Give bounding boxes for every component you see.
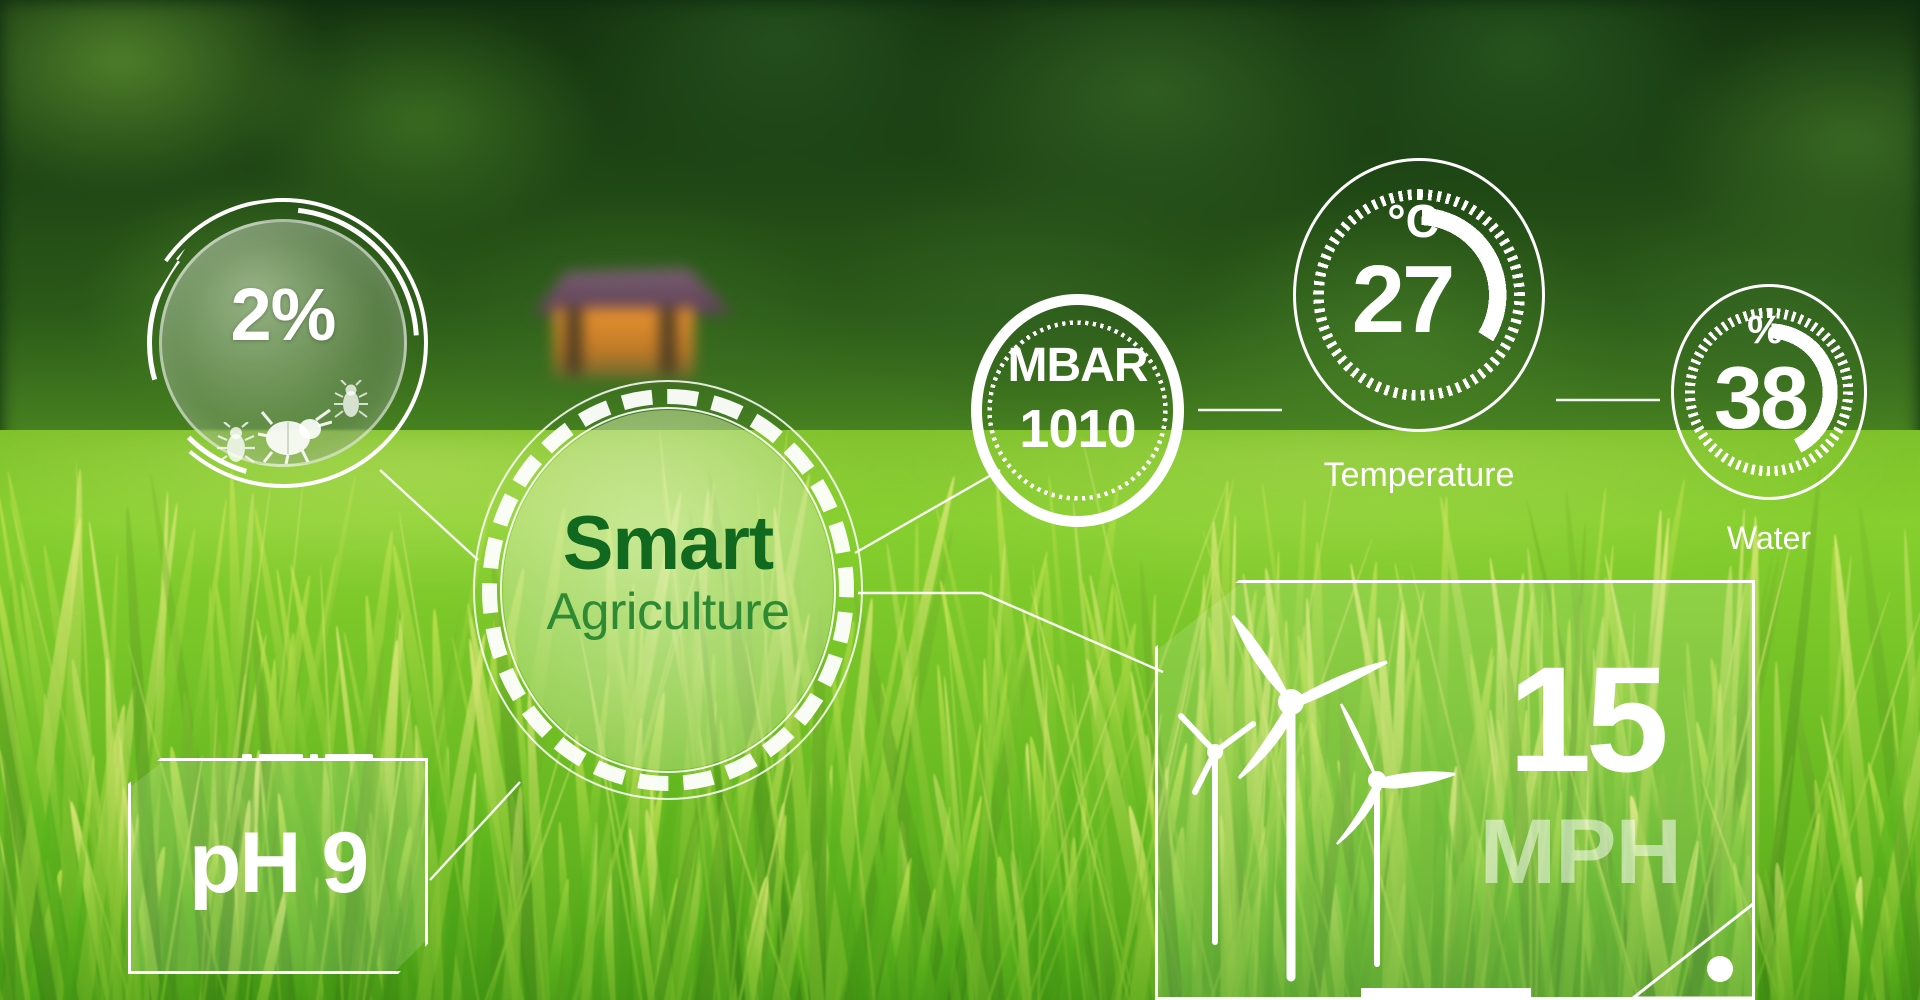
temperature-value: 27 [1275, 252, 1529, 348]
temperature-caption: Temperature [1253, 456, 1585, 495]
wind-panel-corner-notch [1625, 902, 1755, 1000]
wind-speed-panel[interactable]: 15 MPH [1155, 580, 1755, 1000]
pressure-readout: MBAR 1010 [955, 342, 1200, 468]
wind-value: 15 [1508, 644, 1663, 794]
page-title: Smart [473, 508, 863, 580]
pest-level-gauge[interactable]: 2% [138, 198, 428, 488]
water-level-gauge[interactable]: % 38 Water [1655, 268, 1883, 516]
page-subtitle: Agriculture [473, 580, 863, 645]
insect-pest-icon [138, 396, 428, 466]
water-value: 38 [1655, 354, 1865, 442]
temperature-gauge[interactable]: °C 27 Temperature [1275, 140, 1563, 450]
soil-ph-panel[interactable]: pH 9 [128, 758, 428, 974]
pressure-gauge[interactable]: MBAR 1010 [955, 278, 1200, 543]
wind-panel-indicator-dot [1707, 956, 1733, 982]
pressure-value: 1010 [955, 390, 1200, 468]
line-center-to-wind [858, 593, 1163, 672]
water-unit-label: % [1655, 310, 1875, 350]
dashboard-stage: 2% [0, 0, 1920, 1000]
center-label-group: Smart Agriculture [473, 508, 863, 645]
temperature-unit-label: °C [1275, 198, 1551, 244]
wind-unit-label: MPH [1480, 806, 1681, 898]
hud-overlay: 2% [0, 0, 1920, 1000]
water-caption: Water [1629, 520, 1909, 557]
ph-value: pH 9 [128, 820, 428, 906]
center-node-smart-agriculture[interactable]: Smart Agriculture [473, 380, 863, 800]
ph-panel-dashes [242, 754, 373, 761]
pressure-unit-label: MBAR [955, 342, 1200, 390]
wind-turbine-icon [1171, 612, 1501, 1000]
pest-value: 2% [138, 272, 428, 357]
